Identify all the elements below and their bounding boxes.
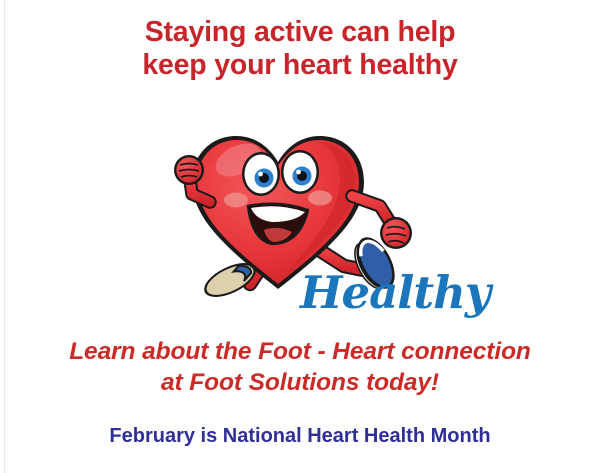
headline-line-1: Staying active can help [0,16,600,49]
headline-line-2: keep your heart healthy [0,49,600,82]
cta-line-2: at Foot Solutions today! [0,367,600,398]
right-cheek [308,191,332,206]
right-fist [380,217,412,249]
heart-health-poster: Staying active can help keep your heart … [0,0,600,473]
cta-line-1: Learn about the Foot - Heart connection [0,336,600,367]
healthy-wordmark: Healthy [300,264,460,322]
call-to-action: Learn about the Foot - Heart connection … [0,336,600,398]
left-fist [174,155,204,185]
right-eye [281,150,319,194]
footer-text: February is National Heart Health Month [0,423,600,449]
left-cheek [224,193,248,208]
page-title: Staying active can help keep your heart … [0,16,600,82]
left-eye [242,152,280,196]
